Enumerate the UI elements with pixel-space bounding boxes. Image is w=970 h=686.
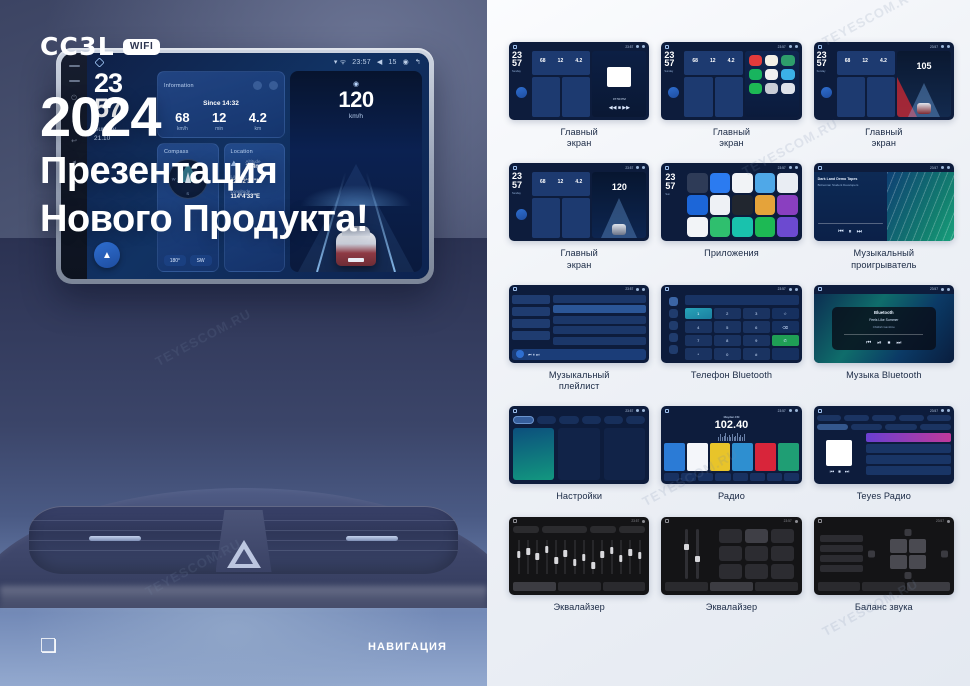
navigation-arrow-icon[interactable]: ▲ xyxy=(94,242,120,268)
screenshot-caption: Музыкальныйплейлист xyxy=(549,370,610,392)
product-logo: CC3L WIFI xyxy=(40,32,160,61)
bt-song: Feels Like Summer xyxy=(869,318,898,322)
bt-title: Bluetooth xyxy=(874,310,894,315)
grid-cell[interactable]: 23:57 123☆ 456⌫ 789✆ *0# xyxy=(661,285,801,392)
screenshot-thumbnail[interactable]: 23:57 Maydan FM 102.40 xyxy=(661,406,801,484)
balance-down-icon[interactable] xyxy=(905,572,912,579)
screenshot-thumbnail[interactable]: 23:57 2357Sunday 68124.2 120 xyxy=(509,163,649,241)
screenshot-thumbnail[interactable]: 23:57 ⏮ ⏸ ⏭ xyxy=(509,285,649,363)
music-song-title: Dark Land Demo Tapes xyxy=(818,177,883,181)
screenshot-thumbnail[interactable]: 23:57 xyxy=(814,517,954,595)
grid-cell[interactable]: 23:57 ⏮⏹⏭ xyxy=(814,406,954,502)
license-plate xyxy=(348,258,364,262)
screenshot-caption: Главныйэкран xyxy=(865,127,902,149)
screenshot-caption: Настройки xyxy=(556,491,602,502)
screenshot-thumbnail[interactable]: 23:57 ⏮⏹⏭ xyxy=(814,406,954,484)
grid-cell[interactable]: 23:57 xyxy=(814,517,954,613)
hero-footer: ❏ НАВИГАЦИЯ xyxy=(0,637,487,656)
thumb-speed-value: 120 xyxy=(592,182,646,192)
compass-heading: 180° xyxy=(164,255,186,266)
wifi-badge: WIFI xyxy=(123,39,161,55)
grid-cell[interactable]: 23:57 2357Sun xyxy=(661,163,801,270)
screenshot-caption: Приложения xyxy=(704,248,759,259)
hero-headline-line2: Нового Продукта! xyxy=(40,197,368,241)
car-dashboard-scene xyxy=(0,238,487,686)
camera-icon[interactable]: ◉ xyxy=(403,58,409,66)
wifi-icon: ▾ ᯤ xyxy=(334,58,346,67)
screenshot-thumbnail[interactable]: 23:57 2357Sun xyxy=(661,163,801,241)
screenshot-thumbnail[interactable]: 23:57 2357Sunday 68124.2 07:50 PM ◀◀ ■ ▶… xyxy=(509,42,649,120)
screenshot-caption: Эквалайзер xyxy=(553,602,604,613)
compass-direction: SW xyxy=(190,255,212,266)
thumb-speed-value: 105 xyxy=(897,61,951,71)
screenshot-caption: Teyes Радио xyxy=(857,491,911,502)
grid-cell[interactable]: 23:57 2357Sunday 68124.2 07:50 PM ◀◀ ■ ▶… xyxy=(509,42,649,149)
grid-cell[interactable]: 23:57 2357Sunday 68124.2 105 xyxy=(814,42,954,149)
grid-cell[interactable]: 23:57 Dark Land Demo Tapes Bohemian Stud… xyxy=(814,163,954,270)
hero-title-block: 2024 Презентация Нового Продукта! xyxy=(40,88,368,241)
screenshot-caption: Баланс звука xyxy=(855,602,913,613)
status-volume: 15 xyxy=(388,59,396,66)
screenshot-thumbnail[interactable]: 23:57 123☆ 456⌫ 789✆ *0# xyxy=(661,285,801,363)
grid-cell[interactable]: 23:57 xyxy=(661,517,801,613)
balance-left-icon[interactable] xyxy=(868,550,875,557)
screenshot-grid: 23:57 2357Sunday 68124.2 07:50 PM ◀◀ ■ ▶… xyxy=(509,42,954,613)
vent-chrome-right xyxy=(346,536,398,541)
screenshot-thumbnail[interactable]: 23:57 Bluetooth Feels Like Summer Childi… xyxy=(814,285,954,363)
screenshot-thumbnail[interactable]: 23:57 xyxy=(509,517,649,595)
screenshot-caption: Музыкальныйпроигрыватель xyxy=(851,248,916,270)
grid-cell[interactable]: 23:57 Bluetooth Feels Like Summer Childi… xyxy=(814,285,954,392)
screenshot-caption: Главныйэкран xyxy=(713,127,750,149)
screenshot-caption: Эквалайзер xyxy=(706,602,757,613)
hero-headline-line1: Презентация xyxy=(40,149,368,193)
screenshot-thumbnail[interactable]: 23:57 xyxy=(509,406,649,484)
hero-year: 2024 xyxy=(40,88,368,145)
screens-gallery-panel: 23:57 2357Sunday 68124.2 07:50 PM ◀◀ ■ ▶… xyxy=(487,0,970,686)
balance-up-icon[interactable] xyxy=(905,529,912,536)
radio-frequency: 102.40 xyxy=(664,419,798,431)
button-next-icon[interactable] xyxy=(69,80,80,82)
screenshot-thumbnail[interactable]: 23:57 2357Sunday 68124.2 xyxy=(661,42,801,120)
screenshot-caption: Главныйэкран xyxy=(561,248,598,270)
logo-text: CC3L xyxy=(40,32,115,61)
button-prev-icon[interactable] xyxy=(69,65,80,67)
balance-right-icon[interactable] xyxy=(941,550,948,557)
layers-icon: ❏ xyxy=(40,637,57,656)
screenshot-caption: Радио xyxy=(718,491,745,502)
presentation-slide: CC3L WIFI 2024 Презентация Нового Продук… xyxy=(0,0,970,686)
hero-panel: CC3L WIFI 2024 Презентация Нового Продук… xyxy=(0,0,487,686)
grid-cell[interactable]: 23:57 2357Sunday 68124.2 120 xyxy=(509,163,649,270)
grid-cell[interactable]: 23:57 Настройки xyxy=(509,406,649,502)
screenshot-caption: Музыка Bluetooth xyxy=(846,370,921,381)
vent-chrome-left xyxy=(89,536,141,541)
hazard-triangle-icon[interactable] xyxy=(227,540,261,568)
back-arrow-icon[interactable]: ↰ xyxy=(415,58,421,66)
navigation-label: НАВИГАЦИЯ xyxy=(368,641,447,653)
grid-cell[interactable]: 23:57 2357Sunday 68124.2 xyxy=(661,42,801,149)
grid-cell[interactable]: 23:57 Maydan FM 102.40 xyxy=(661,406,801,502)
screenshot-thumbnail[interactable]: 23:57 Dark Land Demo Tapes Bohemian Stud… xyxy=(814,163,954,241)
grid-cell[interactable]: 23:57 xyxy=(509,517,649,613)
dashboard-sheen xyxy=(0,586,487,612)
screenshot-thumbnail[interactable]: 23:57 2357Sunday 68124.2 105 xyxy=(814,42,954,120)
volume-icon[interactable]: ◀ xyxy=(377,58,383,66)
screenshot-thumbnail[interactable]: 23:57 xyxy=(661,517,801,595)
grid-cell[interactable]: 23:57 ⏮ ⏸ ⏭ Музыкальныйплейлист xyxy=(509,285,649,392)
status-time: 23:57 xyxy=(352,59,371,66)
screenshot-caption: Главныйэкран xyxy=(561,127,598,149)
screenshot-caption: Телефон Bluetooth xyxy=(691,370,772,381)
